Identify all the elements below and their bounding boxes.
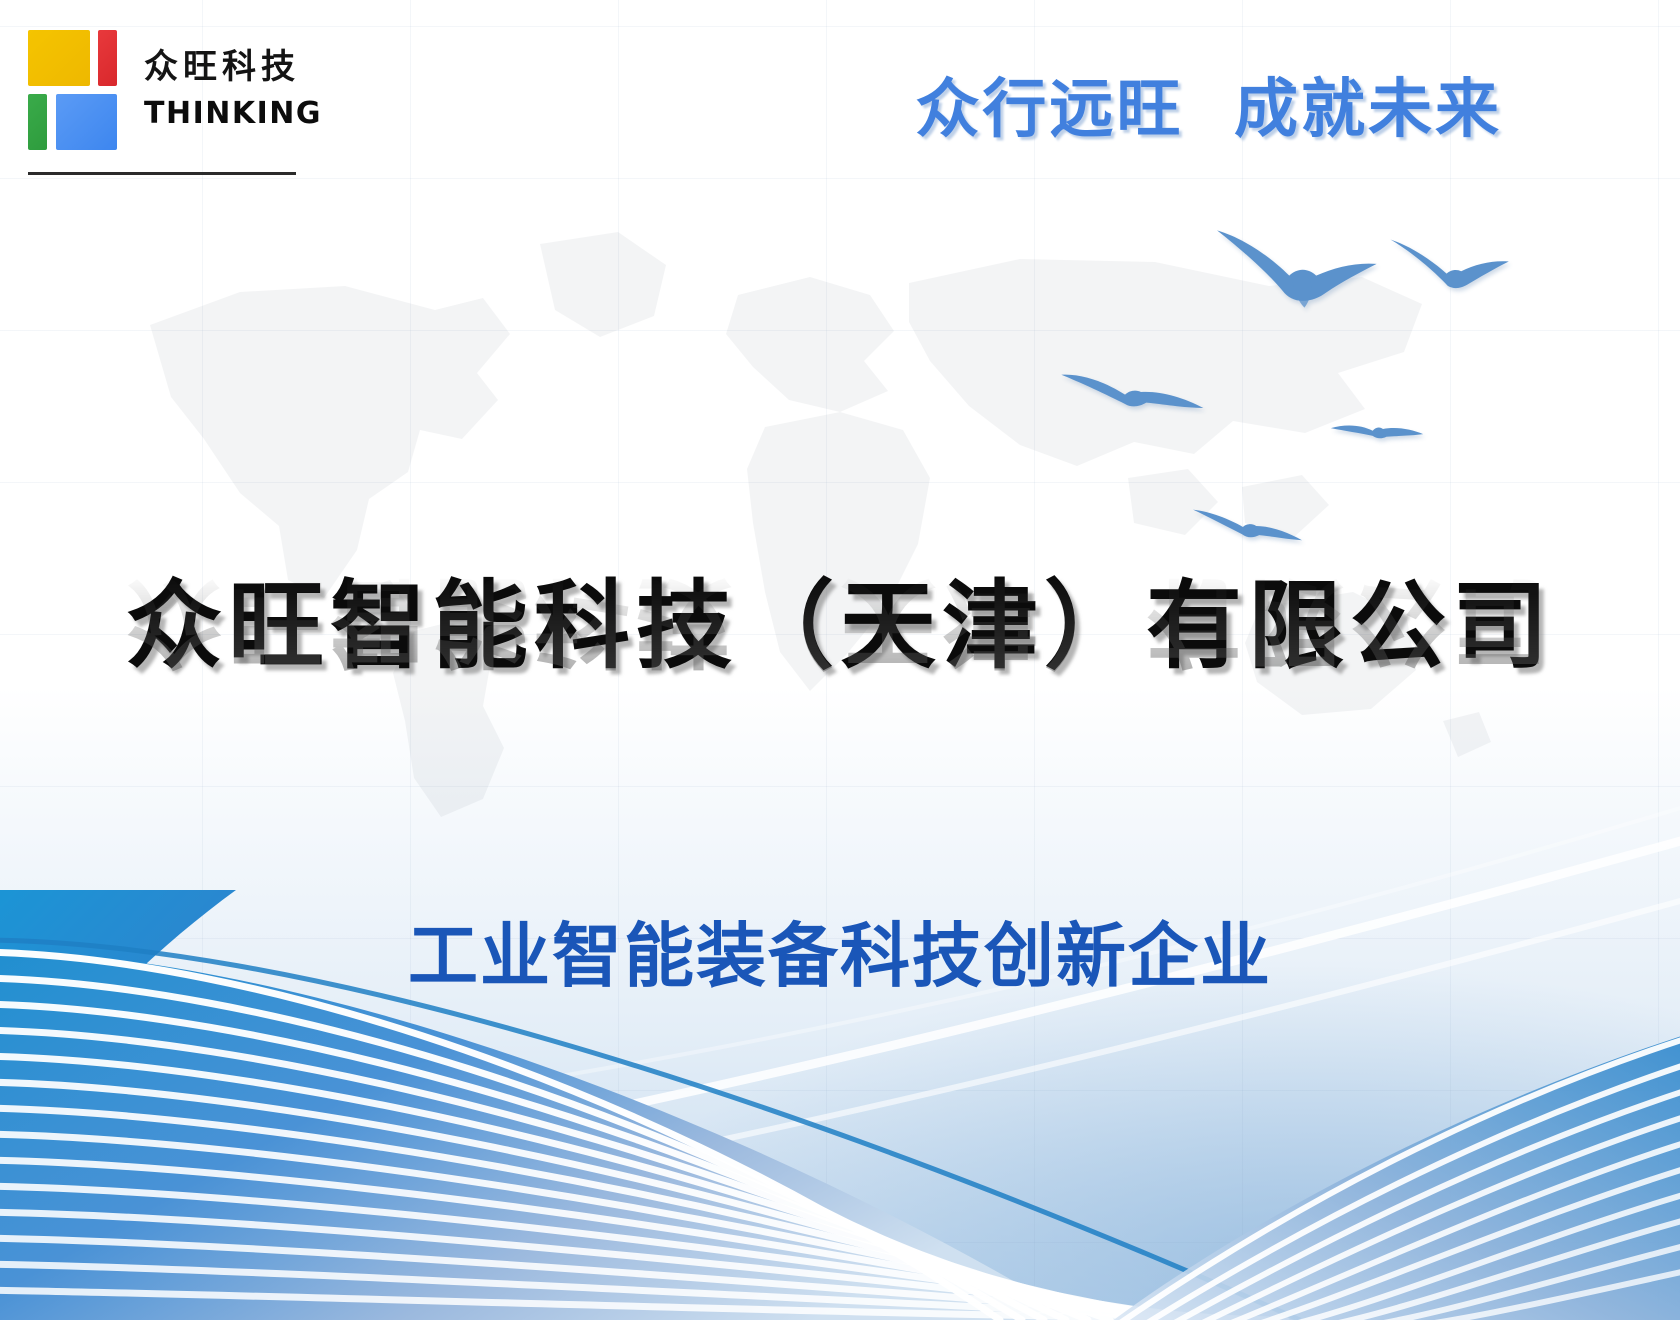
logo-name-cn: 众旺科技 xyxy=(144,48,322,87)
logo-underline xyxy=(28,172,296,175)
logo-name-en: THINKING xyxy=(144,96,322,132)
bird-icon-3 xyxy=(1060,360,1206,432)
bird-icon-2 xyxy=(1388,232,1510,308)
bottom-right-ribbon-decoration xyxy=(960,990,1680,1320)
page-subtitle: 工业智能装备科技创新企业 xyxy=(0,900,1680,1001)
page-title-reflection: 众旺智能科技（天津）有限公司 xyxy=(0,564,1680,677)
header-slogan: 众行远旺 成就未来 xyxy=(915,58,1502,150)
logo-blocks xyxy=(28,30,126,150)
logo-wordmark: 众旺科技 THINKING xyxy=(144,30,322,150)
company-logo[interactable]: 众旺科技 THINKING xyxy=(28,30,322,150)
blue-block-icon xyxy=(56,94,117,150)
red-block-icon xyxy=(98,30,117,86)
bird-icon-4 xyxy=(1330,412,1424,458)
title-slide: 众旺科技 THINKING 众行远旺 成就未来 众旺智能科技（天津）有限公司 众… xyxy=(0,0,1680,1320)
bird-icon-1 xyxy=(1212,222,1380,326)
slide-header: 众旺科技 THINKING 众行远旺 成就未来 xyxy=(0,0,1680,185)
bird-icon-5 xyxy=(1192,500,1304,556)
green-block-icon xyxy=(28,94,47,150)
yellow-block-icon xyxy=(28,30,90,86)
title-area: 众旺智能科技（天津）有限公司 众旺智能科技（天津）有限公司 xyxy=(0,570,1680,791)
